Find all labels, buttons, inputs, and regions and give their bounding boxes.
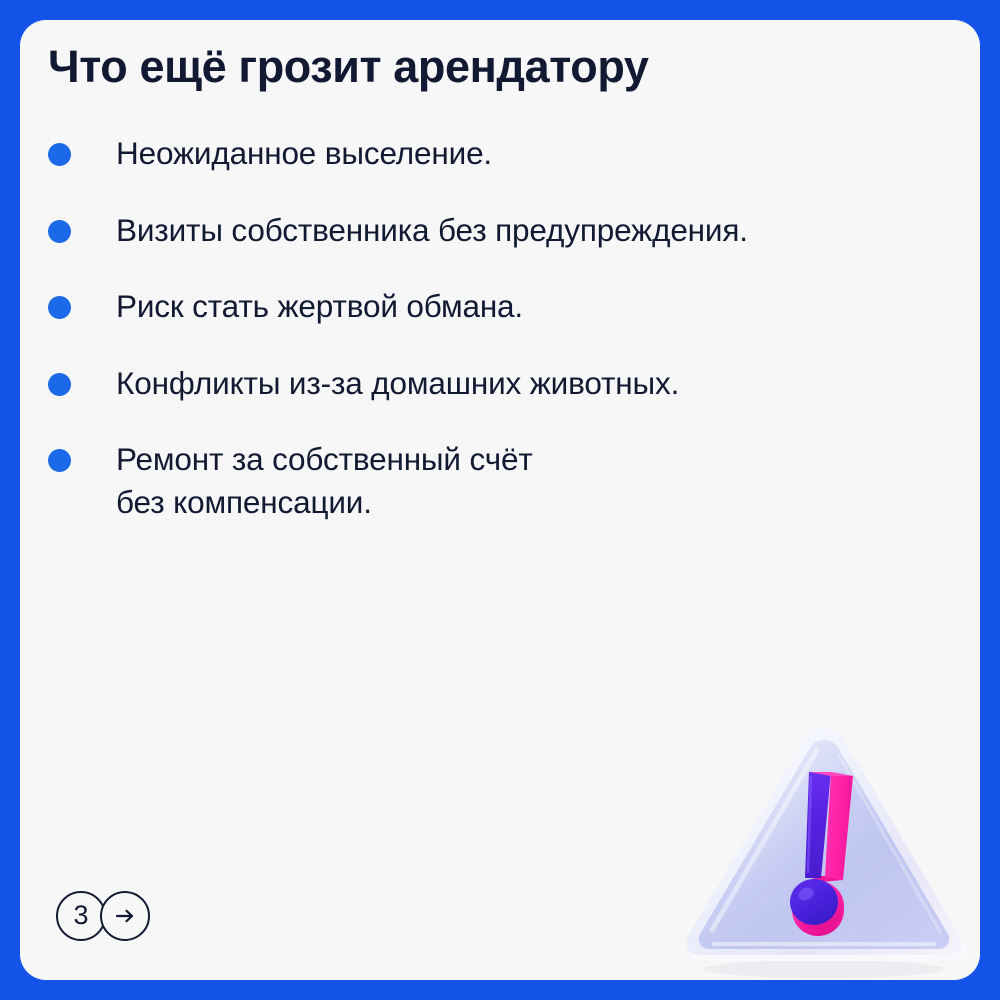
pager: 3: [56, 890, 150, 942]
arrow-right-icon: [112, 903, 138, 929]
page-number: 3: [73, 902, 88, 931]
list-item: Конфликты из-за домашних животных.: [48, 362, 968, 405]
page-number-badge: 3: [56, 891, 106, 941]
list-item-text: Неожиданное выселение.: [116, 132, 968, 175]
list-item: Риск стать жертвой обмана.: [48, 285, 968, 328]
next-slide-button[interactable]: [100, 891, 150, 941]
list-item-line-1: Визиты собственника без предупреждения.: [116, 212, 748, 248]
bullet-dot-icon: [48, 285, 116, 319]
warning-triangle-3d-illustration: [668, 720, 978, 980]
list-item-text: Визиты собственника без предупреждения.: [116, 209, 968, 252]
list-item-line-1: Неожиданное выселение.: [116, 135, 492, 171]
list-item-text: Ремонт за собственный счёт без компенсац…: [116, 438, 968, 523]
risk-list: Неожиданное выселение. Визиты собственни…: [48, 132, 968, 557]
list-item: Неожиданное выселение.: [48, 132, 968, 175]
list-item-text: Риск стать жертвой обмана.: [116, 285, 968, 328]
list-item-line-2: без компенсации.: [116, 481, 968, 524]
list-item-line-1: Риск стать жертвой обмана.: [116, 288, 523, 324]
list-item-line-1: Ремонт за собственный счёт: [116, 441, 533, 477]
list-item-text: Конфликты из-за домашних животных.: [116, 362, 968, 405]
list-item: Ремонт за собственный счёт без компенсац…: [48, 438, 968, 523]
bullet-dot-icon: [48, 362, 116, 396]
content-card: Что ещё грозит арендатору Неожиданное вы…: [20, 20, 980, 980]
list-item: Визиты собственника без предупреждения.: [48, 209, 968, 252]
page-title: Что ещё грозит арендатору: [48, 42, 948, 92]
bullet-dot-icon: [48, 132, 116, 166]
list-item-line-1: Конфликты из-за домашних животных.: [116, 365, 679, 401]
bullet-dot-icon: [48, 209, 116, 243]
slide-frame: Что ещё грозит арендатору Неожиданное вы…: [0, 0, 1000, 1000]
bullet-dot-icon: [48, 438, 116, 472]
